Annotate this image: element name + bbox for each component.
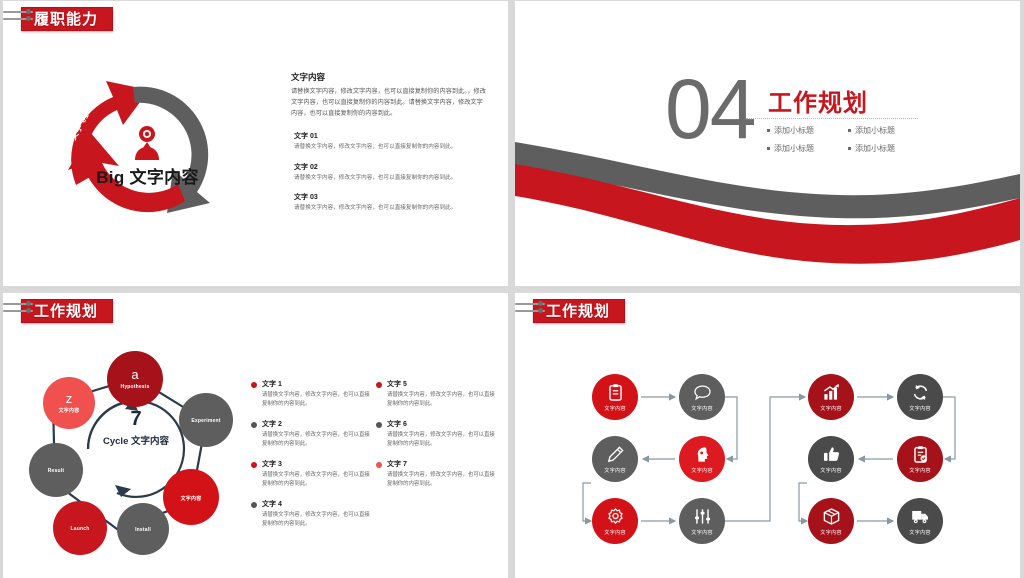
slide-3[interactable]: 工作规划 a Hypothesis Experiment	[3, 293, 508, 578]
arc-label-3: 文字 03	[129, 213, 159, 224]
legend-title: 文字 7	[387, 459, 496, 469]
bullet-dot-icon	[251, 502, 257, 508]
list-item: 添加小标题	[848, 125, 927, 136]
spiral-binder-icon	[3, 302, 35, 318]
section-number: 04	[665, 73, 754, 147]
flow-node-growth: 文字内容	[808, 374, 854, 420]
list-item: 文字 7 请替换文字内容，修改文字内容，也可以直接复制你的内容到此。	[376, 459, 496, 490]
cycle-legend: 文字 1 请替换文字内容，修改文字内容，也可以直接复制你的内容到此。 文字 2 …	[251, 379, 499, 539]
delivery-truck-icon	[911, 507, 930, 526]
subtitle-label: 添加小标题	[855, 125, 895, 136]
speech-bubble-icon	[693, 383, 712, 402]
slide-thumbnail-grid: 履职能力 文字 01	[0, 0, 1024, 577]
flow-node-caption: 文字内容	[691, 467, 713, 474]
slide-1-banner-title: 履职能力	[34, 12, 98, 27]
inner-arrow-head-bottom	[115, 485, 131, 497]
list-item: 文字 4 请替换文字内容，修改文字内容，也可以直接复制你的内容到此。	[251, 499, 371, 530]
cycle-node-letter: a	[131, 368, 138, 382]
gear-icon	[606, 507, 625, 526]
slide-2[interactable]: 04 工作规划 添加小标题 添加小标题 添加小标题 添加小标题	[515, 1, 1020, 286]
list-item-desc: 请替换文字内容，修改文字内容，也可以直接复制你的内容到此。	[294, 174, 484, 184]
legend-title: 文字 2	[262, 419, 371, 429]
list-item: 文字 6 请替换文字内容，修改文字内容，也可以直接复制你的内容到此。	[376, 419, 496, 450]
slide-1-heading: 文字内容	[291, 71, 487, 83]
spiral-binder-icon	[3, 10, 35, 26]
legend-title: 文字 5	[387, 379, 496, 389]
head-brain-icon	[693, 445, 712, 464]
flow-node-caption: 文字内容	[909, 405, 931, 412]
slide-1-sub-items: 文字 01 请替换文字内容，修改文字内容，也可以直接复制你的内容到此。 文字 0…	[294, 131, 484, 223]
list-item: 文字 3 请替换文字内容，修改文字内容，也可以直接复制你的内容到此。	[251, 459, 371, 490]
pencil-icon	[606, 445, 625, 464]
thumbs-up-icon	[822, 445, 841, 464]
bullet-dot-icon	[251, 462, 257, 468]
legend-desc: 请替换文字内容，修改文字内容，也可以直接复制你的内容到此。	[262, 471, 371, 490]
refresh-sync-icon	[911, 383, 930, 402]
package-box-icon	[822, 507, 841, 526]
legend-title: 文字 6	[387, 419, 496, 429]
cycle-node-label: Result	[48, 468, 64, 474]
bullet-dot-icon	[376, 462, 382, 468]
legend-desc: 请替换文字内容，修改文字内容，也可以直接复制你的内容到此。	[262, 511, 371, 530]
cycle-node-3: 文字内容	[163, 469, 219, 525]
flow-node-pencil: 文字内容	[592, 436, 638, 482]
list-item: 文字 03 请替换文字内容，修改文字内容，也可以直接复制你的内容到此。	[294, 192, 484, 214]
flow-node-refresh: 文字内容	[897, 374, 943, 420]
cycle-count: 7	[77, 409, 195, 429]
subtitle-label: 添加小标题	[774, 125, 814, 136]
flow-node-clipboard: 文字内容	[592, 374, 638, 420]
legend-column-right: 文字 5 请替换文字内容，修改文字内容，也可以直接复制你的内容到此。 文字 6 …	[376, 379, 496, 539]
bullet-square-icon	[767, 129, 770, 132]
legend-desc: 请替换文字内容，修改文字内容，也可以直接复制你的内容到此。	[387, 391, 496, 410]
clipboard-check-icon	[911, 445, 930, 464]
growth-chart-icon	[822, 383, 841, 402]
flow-node-package: 文字内容	[808, 498, 854, 544]
list-item: 添加小标题	[767, 143, 846, 154]
flow-node-caption: 文字内容	[604, 405, 626, 412]
cycle-node-hypothesis: a Hypothesis	[107, 351, 163, 407]
slide-1-text-block: 文字内容 请替换文字内容，修改文字内容，也可以直接复制你的内容到此。，修改文字内…	[291, 71, 487, 120]
list-item-title: 文字 01	[294, 131, 484, 141]
bullet-square-icon	[767, 147, 770, 150]
slide-1-paragraph: 请替换文字内容，修改文字内容，也可以直接复制你的内容到此。，修改文字内容，也可以…	[291, 87, 487, 120]
flow-node-clipboard-check: 文字内容	[897, 436, 943, 482]
list-item: 文字 1 请替换文字内容，修改文字内容，也可以直接复制你的内容到此。	[251, 379, 371, 410]
flow-node-speech: 文字内容	[679, 374, 725, 420]
arrow-cycle-diagram: 文字 01 文字 02 文字 03 Big 文字内容	[35, 53, 260, 243]
icon-flow-diagram: 文字内容 文字内容 文字内容 文字内容	[515, 293, 1020, 578]
legend-desc: 请替换文字内容，修改文字内容，也可以直接复制你的内容到此。	[262, 431, 371, 450]
bullet-square-icon	[848, 147, 851, 150]
cycle-node-install: Install	[117, 503, 169, 555]
bullet-dot-icon	[376, 422, 382, 428]
list-item: 添加小标题	[848, 143, 927, 154]
section-title: 工作规划	[768, 83, 868, 118]
flow-node-caption: 文字内容	[691, 405, 713, 412]
slide-3-banner-title: 工作规划	[34, 304, 98, 319]
cycle-node-label: Install	[135, 527, 151, 533]
person-badge-icon	[135, 126, 159, 160]
list-item: 添加小标题	[767, 125, 846, 136]
cycle-center: 7 Cycle 文字内容	[77, 409, 195, 447]
flow-node-caption: 文字内容	[820, 529, 842, 536]
list-item-desc: 请替换文字内容，修改文字内容，也可以直接复制你的内容到此。	[294, 204, 484, 214]
section-subtitle-list: 添加小标题 添加小标题 添加小标题 添加小标题	[767, 125, 927, 154]
flow-node-caption: 文字内容	[909, 529, 931, 536]
slide-1[interactable]: 履职能力 文字 01	[3, 1, 508, 286]
list-item-title: 文字 03	[294, 192, 484, 202]
cycle-node-letter: z	[66, 392, 73, 406]
flow-node-caption: 文字内容	[909, 467, 931, 474]
bullet-dot-icon	[251, 382, 257, 388]
list-item: 文字 02 请替换文字内容，修改文字内容，也可以直接复制你的内容到此。	[294, 162, 484, 184]
legend-desc: 请替换文字内容，修改文字内容，也可以直接复制你的内容到此。	[262, 391, 371, 410]
cycle-node-result: Result	[29, 443, 83, 497]
cycle-center-label: Cycle 文字内容	[77, 433, 195, 447]
wave-svg	[515, 136, 1020, 286]
flow-node-caption: 文字内容	[820, 467, 842, 474]
cycle-node-launch: Launch	[53, 501, 107, 555]
list-item: 文字 2 请替换文字内容，修改文字内容，也可以直接复制你的内容到此。	[251, 419, 371, 450]
flow-node-head: 文字内容	[679, 436, 725, 482]
flow-node-caption: 文字内容	[691, 529, 713, 536]
cycle-node-label: Launch	[71, 526, 90, 532]
flow-node-truck: 文字内容	[897, 498, 943, 544]
flow-node-caption: 文字内容	[604, 467, 626, 474]
flow-node-caption: 文字内容	[604, 529, 626, 536]
list-item: 文字 5 请替换文字内容，修改文字内容，也可以直接复制你的内容到此。	[376, 379, 496, 410]
wave-red	[515, 164, 1020, 264]
legend-title: 文字 3	[262, 459, 371, 469]
cycle-node-label: 文字内容	[181, 495, 202, 502]
seven-cycle-diagram: a Hypothesis Experiment 文字内容 Install Lau…	[21, 341, 251, 556]
flow-connectors-svg	[515, 293, 1020, 578]
clipboard-icon	[606, 383, 625, 402]
list-item: 文字 01 请替换文字内容，修改文字内容，也可以直接复制你的内容到此。	[294, 131, 484, 153]
subtitle-label: 添加小标题	[774, 143, 814, 154]
flow-node-thumbsup: 文字内容	[808, 436, 854, 482]
sliders-icon	[693, 507, 712, 526]
bullet-dot-icon	[376, 382, 382, 388]
cycle-node-label: Hypothesis	[121, 384, 150, 390]
legend-column-left: 文字 1 请替换文字内容，修改文字内容，也可以直接复制你的内容到此。 文字 2 …	[251, 379, 371, 539]
flow-node-caption: 文字内容	[820, 405, 842, 412]
list-item-desc: 请替换文字内容，修改文字内容，也可以直接复制你的内容到此。	[294, 143, 484, 153]
bullet-square-icon	[848, 129, 851, 132]
list-item-title: 文字 02	[294, 162, 484, 172]
legend-title: 文字 4	[262, 499, 371, 509]
flow-node-sliders: 文字内容	[679, 498, 725, 544]
legend-desc: 请替换文字内容，修改文字内容，也可以直接复制你的内容到此。	[387, 471, 496, 490]
title-divider	[746, 118, 918, 119]
cycle-node-label: Experiment	[191, 418, 220, 424]
flow-node-gear: 文字内容	[592, 498, 638, 544]
legend-desc: 请替换文字内容，修改文字内容，也可以直接复制你的内容到此。	[387, 431, 496, 450]
slide-4[interactable]: 工作规划	[515, 293, 1020, 578]
subtitle-label: 添加小标题	[855, 143, 895, 154]
bullet-dot-icon	[251, 422, 257, 428]
decorative-wave-graphic	[515, 136, 1020, 286]
arrow-cycle-center-label: Big 文字内容	[35, 163, 260, 188]
legend-title: 文字 1	[262, 379, 371, 389]
